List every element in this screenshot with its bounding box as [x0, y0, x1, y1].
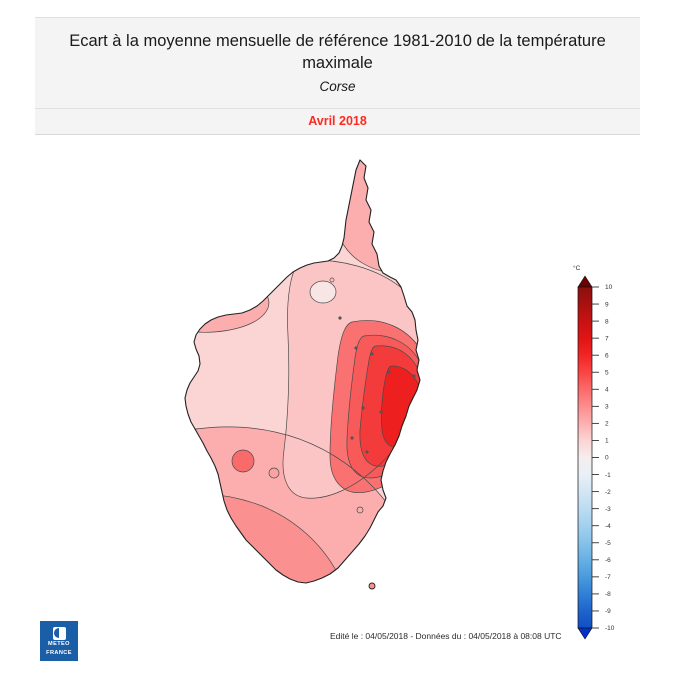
colorbar-tick-label: 6 — [605, 352, 609, 359]
colorbar-min-arrow — [578, 628, 592, 639]
colorbar-tick-label: -4 — [605, 523, 611, 530]
meteo-france-logo: METEO FRANCE — [40, 621, 78, 661]
colorbar-tick-label: 1 — [605, 438, 609, 445]
colorbar-tick-label: 4 — [605, 387, 609, 394]
colorbar-scale: 109876543210-1-2-3-4-5-6-7-8-9-10 — [565, 275, 625, 640]
footer-credit: Edité le : 04/05/2018 - Données du : 04/… — [330, 631, 562, 641]
colorbar-tick-label: 3 — [605, 404, 609, 411]
colorbar-tick-label: -6 — [605, 557, 611, 564]
colorbar-tick-label: -9 — [605, 608, 611, 615]
offshore-islet — [369, 583, 375, 589]
colorbar-tick-label: -3 — [605, 506, 611, 513]
meteo-france-mark-icon — [53, 627, 66, 640]
period-label: Avril 2018 — [35, 114, 640, 128]
colorbar-tick-label: 7 — [605, 335, 609, 342]
colorbar-tick-label: 5 — [605, 369, 609, 376]
header-panel: Ecart à la moyenne mensuelle de référenc… — [35, 17, 640, 109]
colorbar-tick-label: 9 — [605, 301, 609, 308]
colorbar-tick-label: 0 — [605, 455, 609, 462]
colorbar-tick-label: -1 — [605, 472, 611, 479]
colorbar-tick-label: 10 — [605, 284, 613, 291]
colorbar-max-arrow — [578, 276, 592, 287]
colorbar: °C — [565, 265, 625, 640]
page-title: Ecart à la moyenne mensuelle de référenc… — [35, 30, 640, 75]
logo-text-meteo: METEO — [48, 641, 70, 649]
period-panel: Avril 2018 — [35, 108, 640, 135]
anomaly-fill-layers — [150, 140, 470, 640]
colorbar-gradient — [578, 287, 592, 628]
colorbar-tick-label: -2 — [605, 489, 611, 496]
colorbar-tick-label: -5 — [605, 540, 611, 547]
logo-text-france: FRANCE — [46, 650, 72, 658]
colorbar-tick-label: 2 — [605, 421, 609, 428]
colorbar-unit-label: °C — [573, 265, 580, 272]
light-strip-southeast — [364, 530, 391, 622]
colorbar-tick-label: -10 — [605, 625, 615, 632]
region-subtitle: Corse — [35, 79, 640, 94]
colorbar-tick-label: -7 — [605, 574, 611, 581]
colorbar-tick-label: -8 — [605, 591, 611, 598]
colorbar-ticks: 109876543210-1-2-3-4-5-6-7-8-9-10 — [592, 284, 615, 632]
colorbar-tick-label: 8 — [605, 318, 609, 325]
